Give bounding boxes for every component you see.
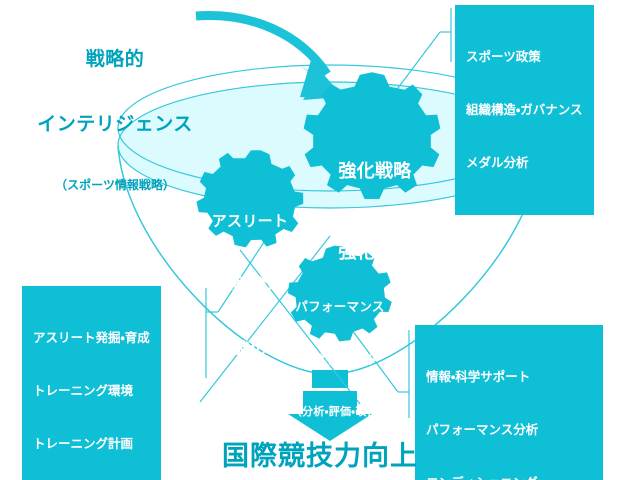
callout-policy-item-1: 組織構造・ガバナンス [466,101,583,119]
callout-athlete-item-1: トレーニング環境 [33,382,150,400]
outcome-label: 国際競技力向上 [160,440,480,475]
gear-athlete-line-1: アスリート [185,211,315,232]
infographic-canvas: 戦略的 インテリジェンス （スポーツ情報戦略） 強化戦略 強化施策 アスリート … [0,0,640,480]
title-line-1: 戦略的 [10,47,220,71]
gear-main-line-1: 強化戦略 [300,158,450,185]
callout-support-item-1: パフォーマンス分析 [426,421,592,439]
callout-support-item-0: 情報・科学サポート [426,368,592,386]
callout-policy-item-2: メダル分析 [466,154,583,172]
callout-policy: スポーツ政策 組織構造・ガバナンス メダル分析 [455,5,594,215]
callout-support-item-2: コンディショニング [426,474,592,480]
gear-label-performance: パフォーマンス マネジメント （分析・評価・改善） [265,262,415,455]
callout-athlete-item-2: トレーニング計画 [33,435,150,453]
callout-athlete-item-0: アスリート発掘・育成 [33,329,150,347]
callout-policy-item-0: スポーツ政策 [466,48,583,66]
gear-perf-line-1: パフォーマンス [265,298,415,316]
gear-perf-line-2: マネジメント [265,351,415,369]
title-line-2: インテリジェンス [10,112,220,136]
callout-athlete: アスリート発掘・育成 トレーニング環境 トレーニング計画 コーチング スポーツ … [22,286,161,480]
gear-perf-line-3: （分析・評価・改善） [265,404,415,420]
